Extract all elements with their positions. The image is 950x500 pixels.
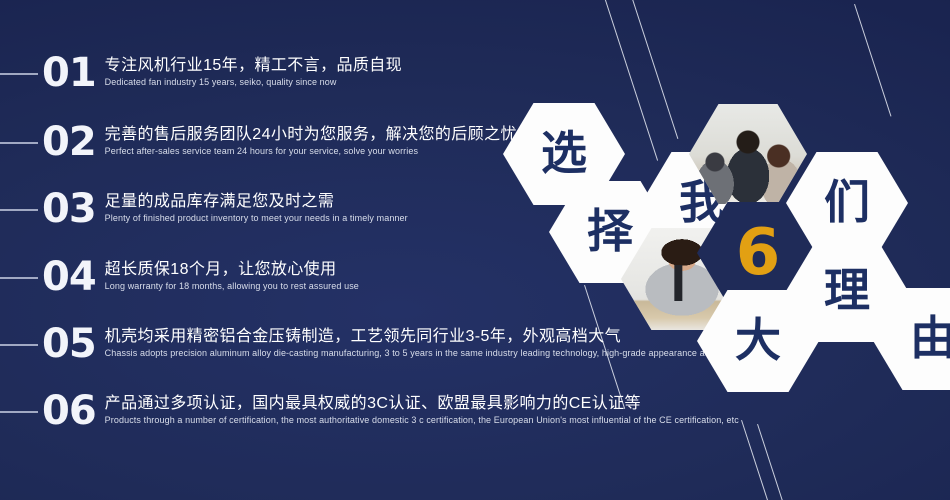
hex-label: 理 xyxy=(824,267,870,313)
hex-label: 大 xyxy=(735,317,781,363)
hex-label: 选 xyxy=(541,130,587,176)
hex-label: 由 xyxy=(910,315,950,361)
promo-banner: 01 专注风机行业15年，精工不言，品质自现 Dedicated fan ind… xyxy=(0,0,950,500)
hex-label: 们 xyxy=(824,179,870,225)
hex-number-label: 6 xyxy=(736,221,781,285)
hexagon-cluster: 选 择 我 6 大 们 理 由 xyxy=(0,0,950,500)
hex-label: 择 xyxy=(587,208,633,254)
